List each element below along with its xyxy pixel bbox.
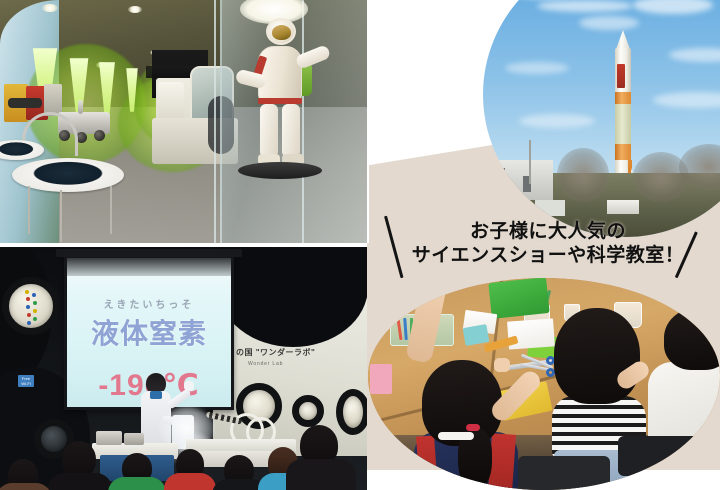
caption-line-1: お子様に大人気の	[398, 222, 698, 242]
free-wifi-label: Free Wi-Fi	[21, 376, 30, 386]
spacesuit-visor	[272, 25, 291, 40]
cloud	[519, 114, 595, 128]
screen-title: 液体窒素	[67, 312, 231, 352]
screen-furigana: えきたいちっそ	[67, 296, 231, 311]
audience-shoulders	[48, 473, 112, 490]
audience-shoulders	[286, 459, 356, 490]
presenter-collar	[150, 391, 162, 399]
kid-hand	[494, 358, 510, 372]
spacesuit-arm-right	[295, 44, 332, 70]
audience-head	[62, 441, 96, 477]
photo-gap-horizontal	[0, 243, 367, 247]
porthole-dna-exhibit	[2, 277, 60, 335]
spacesuit-torso	[258, 46, 302, 104]
photo-rocket-circle	[483, 0, 720, 237]
spacesuit-exhibit	[240, 16, 350, 228]
equipment-box	[96, 431, 122, 445]
dna-model-icon	[25, 290, 39, 324]
cloud	[505, 62, 569, 74]
photo-gap-vertical	[367, 0, 369, 243]
spacesuit-pedestal	[238, 162, 322, 179]
display-table-top	[0, 140, 44, 160]
audience-shoulders	[164, 473, 216, 490]
free-wifi-badge: Free Wi-Fi	[18, 375, 34, 387]
photo-science-show: Free Wi-Fi の国 "ワンダーラボ" Wonder Lab えきたいちっ…	[0, 247, 367, 490]
wonder-lab-sign: の国 "ワンダーラボ"	[236, 347, 315, 358]
spacesuit-helmet	[266, 18, 296, 45]
interactive-display-table	[0, 140, 44, 160]
rocket-orange-band	[615, 144, 631, 160]
photo-museum-exhibit-hall	[0, 0, 367, 243]
lamp-post	[529, 140, 531, 184]
equipment-box	[124, 433, 144, 445]
rocket-pedestal	[607, 200, 639, 214]
cloud	[537, 0, 633, 12]
kid-hair	[664, 308, 720, 370]
screen-shade	[67, 258, 231, 276]
promo-collage: Free Wi-Fi の国 "ワンダーラボ" Wonder Lab えきたいちっ…	[0, 0, 720, 490]
chair-back	[618, 436, 704, 476]
display-table-leg	[28, 186, 30, 234]
photo-kids-workshop	[368, 278, 720, 490]
cloud	[633, 0, 713, 14]
bare-tree	[557, 148, 609, 202]
kid-shirt-red-stripe	[488, 433, 516, 490]
display-table-leg	[60, 190, 62, 242]
rover-wheel	[94, 130, 105, 141]
wonder-lab-sign-sub: Wonder Lab	[248, 361, 283, 367]
cloud	[669, 48, 720, 62]
museum-building	[483, 160, 553, 200]
porthole	[292, 395, 324, 427]
display-table-leg	[110, 186, 112, 234]
presenter-glove	[184, 381, 194, 391]
exhibit-wall-panel	[158, 82, 184, 120]
chair-back	[518, 456, 610, 490]
pink-label	[370, 364, 392, 394]
caption-line-2: サイエンスショーや科学教室！	[398, 246, 698, 266]
exhibit-module	[8, 98, 42, 108]
spacesuit-leg-left	[260, 104, 278, 156]
kid-shirt-red-stripe	[416, 435, 438, 490]
rover-model-mast	[78, 100, 83, 114]
spacesuit-leg-right	[282, 104, 300, 156]
kid-hair	[554, 308, 640, 404]
ceiling-light	[128, 6, 142, 13]
rocket-orange-band	[615, 92, 631, 104]
kid-ponytail-girl	[398, 358, 528, 490]
small-structure	[535, 200, 565, 216]
case-mullion	[214, 0, 216, 243]
kid-collar	[438, 432, 474, 440]
screen-frame-top	[56, 249, 242, 257]
cloud	[579, 16, 639, 30]
audience-shoulders	[108, 477, 166, 490]
promo-caption: お子様に大人気の サイエンスショーや科学教室！	[398, 222, 698, 266]
building-window	[495, 168, 505, 178]
rocket-red-marking	[617, 64, 625, 88]
ceiling-light	[42, 4, 58, 12]
cloud	[653, 92, 720, 108]
rocket-pale-band	[615, 104, 631, 144]
kid-hair-tie	[466, 424, 480, 431]
porthole	[336, 389, 367, 435]
